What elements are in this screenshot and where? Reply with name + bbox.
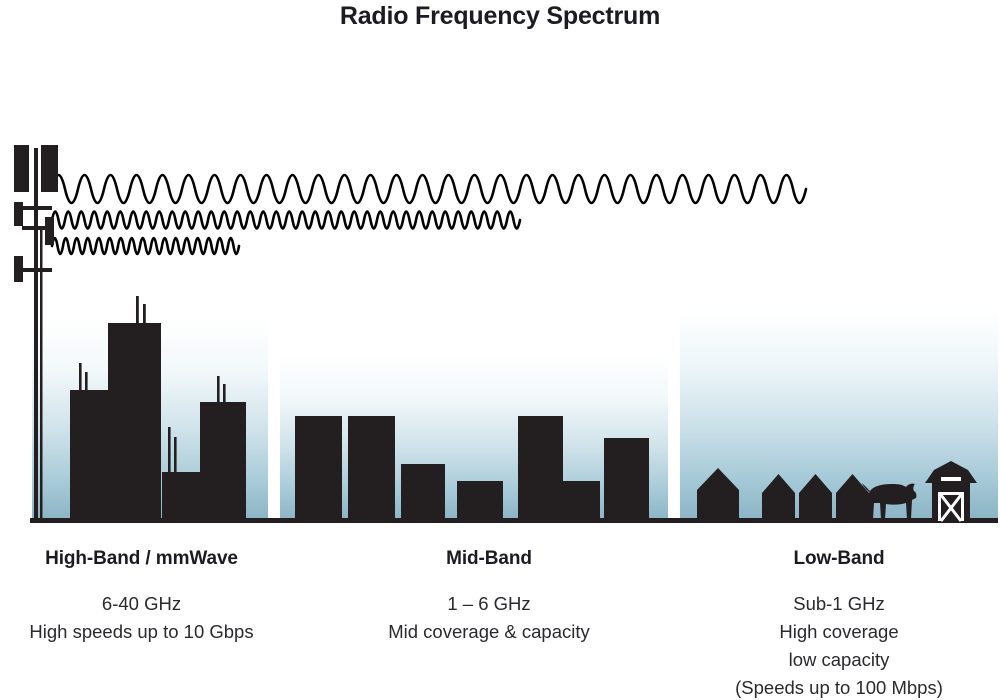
band-label-high-band: High-Band / mmWave: [0, 548, 283, 570]
tower-antenna-panel-upper-left: [14, 145, 29, 192]
skyscraper-building: [162, 472, 202, 522]
midrise-building: [457, 481, 503, 522]
band-label-mid-band: Mid-Band: [345, 548, 633, 570]
midrise-building: [518, 416, 563, 522]
tower-crossbar-mid: [22, 226, 52, 230]
band-speed-high-band: High speeds up to 10 Gbps: [0, 618, 283, 646]
tower-antenna-panel-lower-left: [14, 256, 23, 282]
band-description-mid-band: 1 – 6 GHz Mid coverage & capacity: [345, 590, 633, 646]
band-frequency-high-band: 6-40 GHz: [0, 590, 283, 618]
infographic-canvas: Radio Frequency Spectrum: [0, 0, 1000, 700]
band-capacity-low-band: low capacity: [695, 646, 983, 674]
tower-crossbar-upper: [20, 206, 52, 210]
band-coverage-low-band: High coverage: [695, 618, 983, 646]
tower-antenna-panel-mid-left: [14, 202, 23, 226]
midrise-building: [604, 438, 649, 522]
band-frequency-low-band: Sub-1 GHz: [695, 590, 983, 618]
tower-antenna-panel-mid-right: [45, 217, 54, 245]
skyscraper-spire: [217, 376, 220, 406]
tower-antenna-panel-upper-right: [41, 145, 58, 192]
barn-loft-window: [941, 477, 961, 481]
tower-mast: [34, 148, 38, 522]
band-description-high-band: 6-40 GHz High speeds up to 10 Gbps: [0, 590, 283, 646]
skyscraper-spire: [174, 437, 177, 475]
low-band-wave: [52, 175, 806, 203]
band-coverage-mid-band: Mid coverage & capacity: [345, 618, 633, 646]
midrise-building: [295, 416, 342, 522]
band-speed-low-band: (Speeds up to 100 Mbps): [695, 674, 983, 700]
radio-waves: [52, 175, 806, 254]
high-band-wave: [52, 238, 239, 254]
band-frequency-mid-band: 1 – 6 GHz: [345, 590, 633, 618]
mid-band-wave: [52, 212, 520, 229]
midrise-building: [348, 416, 395, 522]
midrise-building: [401, 464, 445, 522]
band-label-low-band: Low-Band: [695, 548, 983, 570]
tower-mast-secondary: [40, 228, 43, 522]
band-description-low-band: Sub-1 GHz High coverage low capacity (Sp…: [695, 590, 983, 700]
skyscraper-building: [200, 402, 246, 522]
skyscraper-building: [108, 323, 161, 522]
skyscraper-spire: [79, 363, 82, 393]
skyscraper-building: [70, 390, 111, 522]
skyscraper-spire: [143, 304, 146, 326]
tower-crossbar-lower: [22, 268, 52, 272]
midrise-building: [563, 481, 600, 522]
skyscraper-spire: [168, 427, 171, 475]
skyscraper-spire: [136, 296, 139, 326]
